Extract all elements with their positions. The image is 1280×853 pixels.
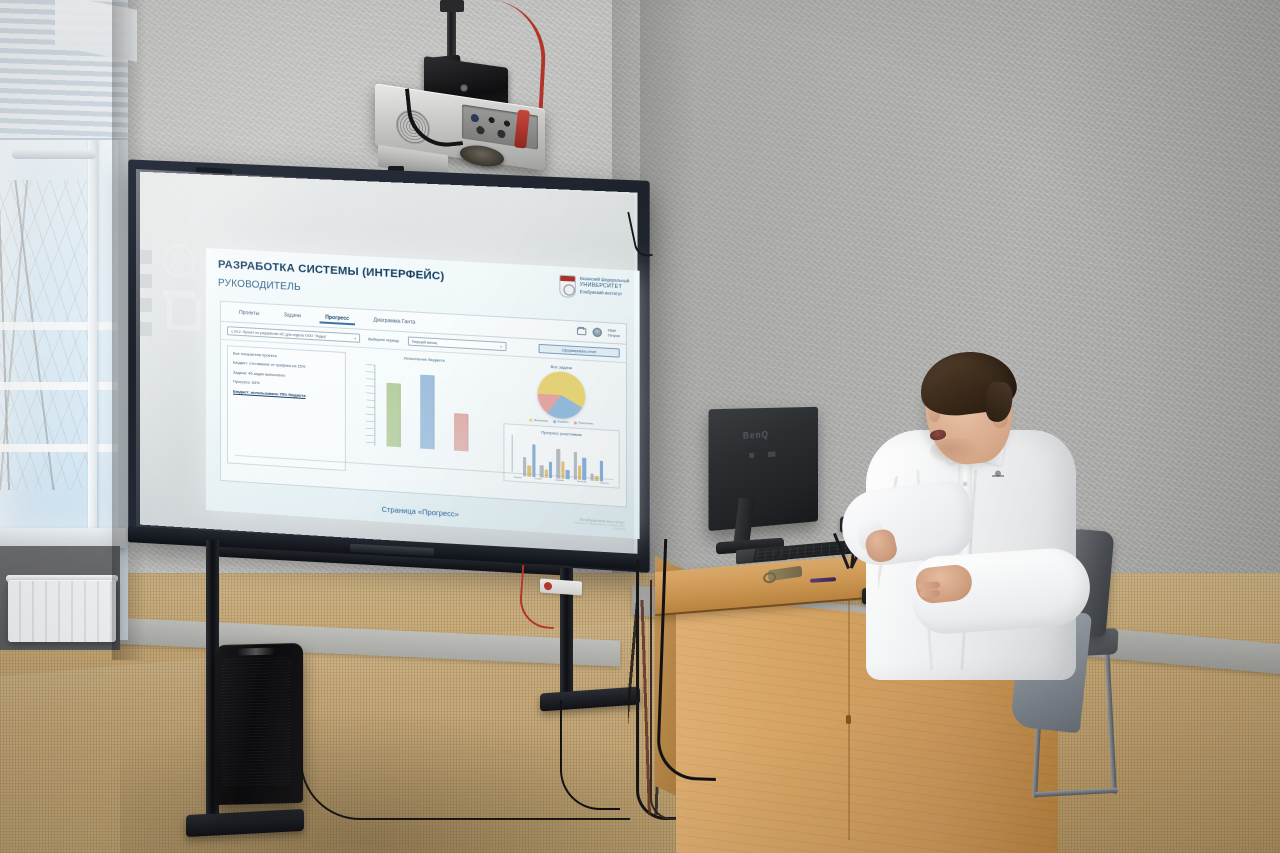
kfu-logo-text: Казанский федеральный УНИВЕРСИТЕТ Елабуж… <box>580 276 629 298</box>
tasks-pie-chart <box>538 370 586 420</box>
column-logo-emblem <box>163 290 195 328</box>
bar-fact <box>420 374 434 449</box>
x-label-4: Смирнов <box>600 482 610 485</box>
period-select-value: Текущий месяц <box>412 339 438 345</box>
x-label-0: Иванов <box>514 477 522 480</box>
participants-chart-block: Прогресс участников Иванов Петров Сидоро… <box>503 423 619 488</box>
tab-tasks[interactable]: Задачи <box>272 311 313 319</box>
user-name-line2: Петров <box>608 333 620 338</box>
app-tabbar-right: Иван Петров <box>577 327 620 339</box>
monitor-back-panel <box>709 407 819 531</box>
app-screenshot-mock: Проекты Задачи Прогресс Диаграмма Ганта … <box>220 301 627 508</box>
classroom-photo-scene: РАЗРАБОТКА СИСТЕМЫ (ИНТЕРФЕЙС) РУКОВОДИТ… <box>0 0 1280 853</box>
floor-cable-2 <box>560 700 620 810</box>
generate-report-button[interactable]: Сформировать отчет <box>539 344 620 358</box>
participant-bar-1-0 <box>540 465 544 478</box>
slide-footer: Елабужский институт Казанского федеральн… <box>574 516 624 532</box>
window-blind-slats <box>0 250 118 480</box>
university-seal-emblem <box>163 244 195 278</box>
budget-chart-title: Исполнение бюджета <box>404 355 445 362</box>
kpi-panel: Все показатели проекта Бюджет: отставани… <box>227 345 346 471</box>
whiteboard-side-buttons[interactable] <box>140 250 152 361</box>
monitor-screen-edge <box>818 418 828 517</box>
tasks-pie-block: Все задачи Выполнено В работе <box>503 361 619 427</box>
budget-chart-block: Исполнение бюджета <box>352 352 497 480</box>
tab-progress[interactable]: Прогресс <box>313 313 361 322</box>
participant-bar-3-1 <box>578 465 582 480</box>
window-handle[interactable] <box>12 150 96 159</box>
legend-label-inprogress: В работе <box>558 420 569 424</box>
desk-cable <box>656 539 724 781</box>
chevron-down-icon: ▾ <box>354 336 356 340</box>
kpi-row-budget: Бюджет: использовано 75% бюджета <box>233 389 340 400</box>
legend-dot-inprogress <box>553 420 556 423</box>
x-label-2: Сидоров <box>555 479 564 482</box>
participant-bar-0-2 <box>532 445 536 477</box>
kfu-shield-icon <box>559 275 576 298</box>
finger-2 <box>920 590 940 598</box>
folder-icon[interactable] <box>577 328 586 336</box>
tab-gantt-chart[interactable]: Диаграмма Ганта <box>361 316 427 326</box>
tab-projects[interactable]: Проекты <box>227 309 272 318</box>
floor-speaker <box>215 643 303 805</box>
app-content-area: Все показатели проекта Бюджет: отставани… <box>221 340 626 494</box>
desk-drawer-knob[interactable] <box>846 715 851 724</box>
kfu-logo: Казанский федеральный УНИВЕРСИТЕТ Елабуж… <box>559 275 629 301</box>
participant-bar-1-2 <box>549 462 553 478</box>
project-select[interactable]: 1.04.2. Проект по разработке ИС для отде… <box>227 326 360 343</box>
chevron-down-icon: ▾ <box>500 344 502 348</box>
legend-dot-overdue <box>574 421 577 424</box>
legend-label-done: Выполнено <box>534 419 548 423</box>
x-label-3: Кузнецов <box>577 481 587 484</box>
bar-remaining <box>454 413 468 451</box>
right-charts-column: Все задачи Выполнено В работе <box>503 361 619 488</box>
legend-dot-done <box>530 419 533 422</box>
speaker-brand-logo <box>237 648 275 656</box>
legend-label-overdue: Просрочено <box>579 422 594 426</box>
budget-chart-y-axis <box>374 365 375 446</box>
participants-chart-y-axis <box>512 435 513 472</box>
x-label-1: Петров <box>534 478 542 481</box>
shirt-button-1 <box>963 482 967 486</box>
participant-group-1 <box>540 461 553 478</box>
participant-bar-0-1 <box>528 466 532 477</box>
bar-plan <box>386 383 400 447</box>
monitor-brand-logo: BenQ <box>743 429 769 440</box>
participant-bar-2-2 <box>566 469 570 479</box>
user-name: Иван Петров <box>608 328 620 338</box>
legend-overdue: Просрочено <box>574 421 593 425</box>
radiator <box>8 580 116 642</box>
period-label: Выберите период: <box>368 337 399 343</box>
window-frame-vertical <box>88 130 97 538</box>
shirt-pocket-emblem <box>992 470 1004 486</box>
period-select[interactable]: Текущий месяц ▾ <box>408 336 507 351</box>
budget-bar-chart <box>364 360 485 460</box>
project-select-value: 1.04.2. Проект по разработке ИС для отде… <box>231 329 327 338</box>
budget-chart-y-ticks <box>366 364 374 445</box>
speaker-grille <box>221 657 291 787</box>
participant-bar-2-1 <box>561 462 565 479</box>
window-sill <box>0 528 126 548</box>
person-jaw-shadow <box>930 438 982 464</box>
avatar[interactable] <box>592 327 601 337</box>
kfu-logo-line3: Елабужский институт <box>580 289 629 298</box>
legend-done: Выполнено <box>530 419 548 423</box>
projected-slide: РАЗРАБОТКА СИСТЕМЫ (ИНТЕРФЕЙС) РУКОВОДИТ… <box>206 248 640 539</box>
participant-bar-0-0 <box>523 457 527 476</box>
legend-inprogress: В работе <box>553 420 568 424</box>
